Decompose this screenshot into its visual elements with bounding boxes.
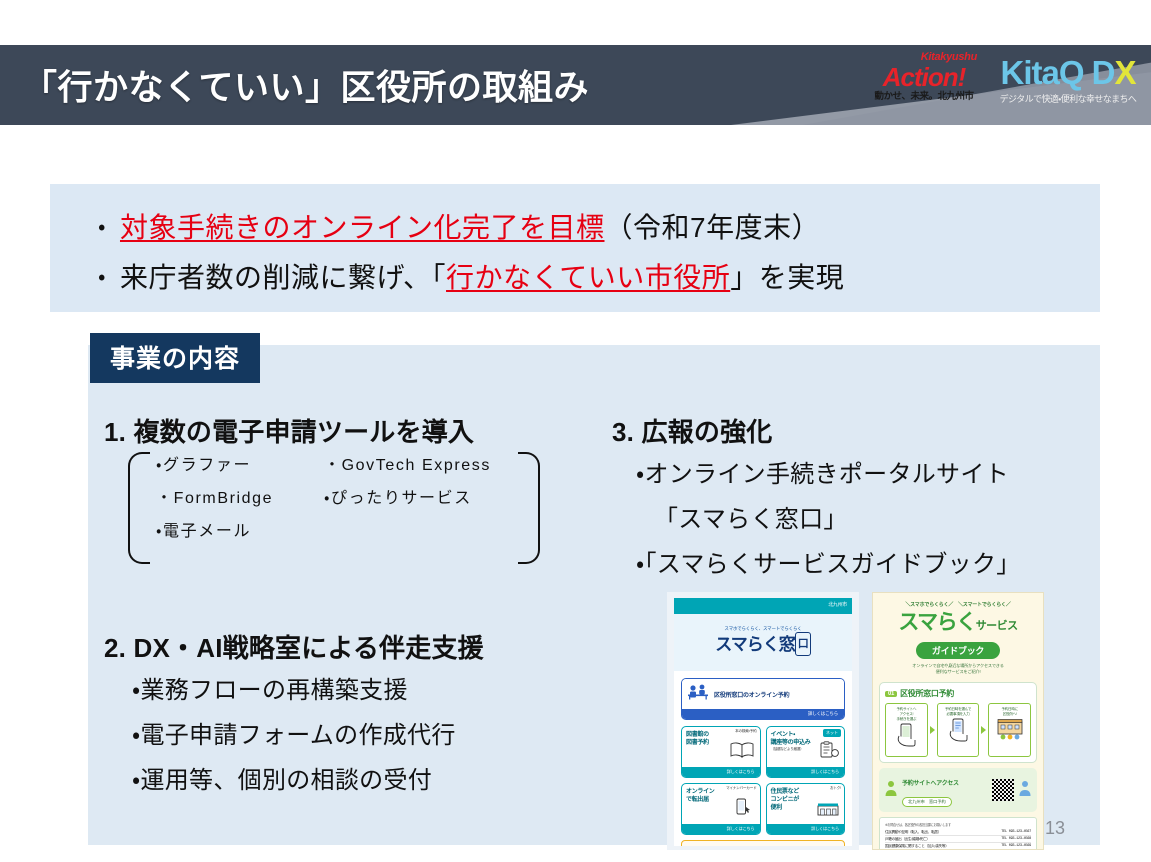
- convenience-store-icon: [816, 802, 840, 821]
- hand-phone-form-icon: [945, 730, 971, 747]
- guidebook-qr-label: 予約サイトへアクセス: [902, 781, 959, 787]
- table-row: 戸籍の届出（出生・婚姻・死亡）TEL 093-123-4568: [885, 836, 1031, 843]
- contact-tel: TEL 093-123-4569: [990, 843, 1031, 850]
- goal-bullet-2-pre: 来庁者数の削減に繋げ、「: [120, 262, 446, 293]
- tool-item: [324, 522, 512, 542]
- portal-card-mini-label: おトク!: [830, 786, 841, 791]
- item-2-heading: 2. DX・AI戦略室による伴走支援: [104, 628, 484, 665]
- portal-main-card-label: 区役所窓口のオンライン予約: [714, 690, 789, 699]
- goal-summary-box: ・対象手続きのオンライン化完了を目標（令和7年度末） ・来庁者数の削減に繋げ、「…: [50, 184, 1100, 312]
- bullet-dot-icon: ・: [98, 264, 106, 289]
- table-row: 国民健康保険に関すること（加入・喪失等）TEL 093-123-4569: [885, 843, 1031, 850]
- guidebook-contact-table: ※お問合せは、各区役所の各担当課にお願いします 住民異動や証明（転入、転出、転居…: [879, 817, 1037, 850]
- portal-card-title: 図書館の 図書予約: [686, 731, 732, 747]
- guidebook-badge: ガイドブック: [916, 642, 1000, 659]
- guidebook-description: オンラインで自宅や身近な場所からアクセスできる 便利なサービスをご紹介!: [873, 663, 1043, 675]
- clipboard-icon: [818, 741, 840, 764]
- guidebook-step-2: 予約日時を選んで 必要事項を入力: [937, 703, 980, 757]
- action-logo-tagline: 動かせ、未来。北九州市: [865, 91, 983, 103]
- goal-bullet-1-rest: （令和7年度末）: [605, 212, 821, 243]
- kitakyushu-action-logo: Kitakyushu Action! 動かせ、未来。北九州市: [865, 52, 983, 114]
- item-2-bullet-list: ・業務フローの再構築支援 ・電子申請フォームの作成代行 ・運用等、個別の相談の受…: [132, 668, 456, 803]
- person-icon: [884, 780, 898, 801]
- portal-card-body: マイナンバーカード オンライン で転出届: [682, 784, 760, 824]
- contact-table-body: 住民異動や証明（転入、転出、転居）TEL 093-123-4567 戸籍の届出（…: [885, 829, 1031, 850]
- goal-bullet-1-highlight: 対象手続きのオンライン化完了を目標: [120, 212, 605, 243]
- guidebook-step-text: 予約サイトへ アクセス! 手続きを選ぶ: [888, 707, 925, 722]
- guidebook-tagline: ＼スマホでらくらく／ ＼スマートでらくらく／: [873, 601, 1043, 608]
- list-item: ・「スマらくサービスガイドブック」: [636, 542, 1021, 587]
- guidebook-step-text: 予約日時に 区役所へ!: [991, 707, 1028, 717]
- guidebook-step-3: 予約日時に 区役所へ!: [988, 703, 1031, 757]
- list-item: 「スマらく窓口」: [636, 497, 1021, 542]
- book-icon: [729, 741, 755, 764]
- portal-card-mini-label: マイナンバーカード: [726, 786, 756, 791]
- tool-item: ・ぴったりサービス: [324, 489, 512, 509]
- smaraku-madoguchi-screenshot: 北九州市 スマホでらくらく、スマートでらくらく スマらく窓口 区役所窓口のオンラ…: [667, 592, 859, 850]
- arrow-right-icon: [981, 726, 986, 734]
- business-content-label: 事業の内容: [90, 333, 260, 383]
- page-number: 13: [1045, 818, 1065, 839]
- portal-body: 区役所窓口のオンライン予約 詳しくはこちら 本の検索・予約 図書館の 図書予約 …: [674, 671, 852, 846]
- goal-bullet-2-post: 」を実現: [730, 262, 844, 293]
- guidebook-section-title-text: 区役所窓口予約: [900, 689, 954, 698]
- guidebook-step-text: 予約日時を選んで 必要事項を入力: [940, 707, 977, 717]
- goal-bullet-2-highlight: 行かなくていい市役所: [446, 262, 730, 293]
- tool-item: ・GovTech Express: [324, 456, 512, 476]
- portal-card-title: イベント・ 講座等の申込み: [771, 731, 817, 747]
- list-item: ・電子申請フォームの作成代行: [132, 713, 456, 758]
- goal-bullet-2: ・来庁者数の削減に繋げ、「行かなくていい市役所」を実現: [98, 256, 844, 296]
- guidebook-step-1: 予約サイトへ アクセス! 手続きを選ぶ: [885, 703, 928, 757]
- contact-tel: TEL 093-123-4567: [990, 829, 1031, 836]
- portal-hero: スマホでらくらく、スマートでらくらく スマらく窓口: [674, 614, 852, 671]
- portal-card-conveni[interactable]: おトク! 住民票など コンビニが 便利 詳しくはこちら: [766, 783, 846, 835]
- arrow-right-icon: [930, 726, 935, 734]
- guidebook-section-01: 01区役所窓口予約 予約サイトへ アクセス! 手続きを選ぶ 予約日時を選んで 必…: [879, 682, 1037, 763]
- tool-item: ・FormBridge: [156, 489, 324, 509]
- list-item: ・オンライン手続きポータルサイト: [636, 452, 1021, 497]
- smaraku-guidebook-screenshot: ＼スマホでらくらく／ ＼スマートでらくらく／ スマらくサービス ガイドブック オ…: [872, 592, 1044, 850]
- portal-bottom-strip: [681, 840, 845, 846]
- portal-brand: スマらく窓口: [674, 632, 852, 656]
- portal-main-card-footer[interactable]: 詳しくはこちら: [682, 709, 844, 719]
- portal-card-footer[interactable]: 詳しくはこちら: [682, 824, 760, 834]
- bracket-right-icon: [518, 452, 540, 564]
- tools-bracket-group: ・グラファー ・GovTech Express ・FormBridge ・ぴった…: [128, 452, 540, 564]
- table-row: 住民異動や証明（転入、転出、転居）TEL 093-123-4567: [885, 829, 1031, 836]
- portal-card-body: 本の検索・予約 図書館の 図書予約: [682, 727, 760, 767]
- contact-table: 住民異動や証明（転入、転出、転居）TEL 093-123-4567 戸籍の届出（…: [885, 829, 1031, 850]
- bracket-left-icon: [128, 452, 150, 564]
- portal-card-title: 住民票など コンビニが 便利: [771, 788, 817, 812]
- kitaq-dx-logo: KitaQ DX デジタルで快適・便利な幸せなまちへ: [988, 52, 1148, 114]
- tools-list: ・グラファー ・GovTech Express ・FormBridge ・ぴった…: [156, 456, 512, 542]
- portal-card-library[interactable]: 本の検索・予約 図書館の 図書予約 詳しくはこちら: [681, 726, 761, 778]
- portal-card-badge: ネット: [823, 729, 841, 737]
- tool-item: ・電子メール: [156, 522, 324, 542]
- counter-reception-icon: [687, 684, 709, 705]
- guidebook-brand-text: スマらく: [898, 611, 975, 634]
- portal-card-mini-label: 本の検索・予約: [735, 729, 756, 734]
- action-logo-main-text: Action!: [865, 63, 983, 91]
- guidebook-brand-service: サービス: [976, 620, 1018, 632]
- portal-brand-text: スマらく窓: [715, 635, 795, 654]
- guidebook-table-caption: ※お問合せは、各区役所の各担当課にお願いします: [885, 822, 1031, 827]
- portal-card-footer[interactable]: 詳しくはこちら: [767, 824, 845, 834]
- page-title: 「行かなくていい」区役所の取組み: [22, 60, 589, 111]
- guidebook-section-title: 01区役所窓口予約: [885, 688, 1031, 699]
- item-3-heading: 3. 広報の強化: [612, 412, 773, 449]
- portal-card-moveout[interactable]: マイナンバーカード オンライン で転出届 詳しくはこちら: [681, 783, 761, 835]
- government-office-icon: [995, 730, 1025, 747]
- qr-code-icon[interactable]: [992, 779, 1014, 801]
- portal-card-events[interactable]: ネット イベント・ 講座等の申込み （抽選などより厳選） 詳しくはこちら: [766, 726, 846, 778]
- item-3-bullet-list: ・オンライン手続きポータルサイト 「スマらく窓口」 ・「スマらくサービスガイドブ…: [636, 452, 1021, 587]
- contact-name: 住民異動や証明（転入、転出、転居）: [885, 829, 990, 836]
- contact-tel: TEL 093-123-4568: [990, 836, 1031, 843]
- guidebook-steps: 予約サイトへ アクセス! 手続きを選ぶ 予約日時を選んで 必要事項を入力 予約日…: [885, 703, 1031, 757]
- guidebook-section-number: 01: [885, 691, 897, 697]
- portal-card-body: おトク! 住民票など コンビニが 便利: [767, 784, 845, 824]
- kitaq-logo-main-text: KitaQ DX: [988, 52, 1148, 94]
- portal-brand-boxed-char: 口: [795, 632, 811, 656]
- smartphone-icon: [734, 797, 754, 822]
- kitaq-logo-text-x: X: [1115, 54, 1136, 91]
- portal-card-body: ネット イベント・ 講座等の申込み （抽選などより厳選）: [767, 727, 845, 767]
- guidebook-qr-pill: 北九州市 窓口予約: [902, 797, 952, 807]
- guidebook-qr-block: 予約サイトへアクセス 北九州市 窓口予約: [879, 768, 1037, 812]
- goal-bullet-1: ・対象手続きのオンライン化完了を目標（令和7年度末）: [98, 206, 820, 246]
- city-logo-label: 北九州市: [828, 601, 847, 608]
- portal-topbar: 北九州市: [674, 598, 852, 614]
- portal-card-footer[interactable]: 詳しくはこちら: [767, 767, 845, 777]
- tool-item: ・グラファー: [156, 456, 324, 476]
- item-1-heading: 1. 複数の電子申請ツールを導入: [104, 412, 474, 449]
- list-item: ・運用等、個別の相談の受付: [132, 758, 456, 803]
- portal-main-card[interactable]: 区役所窓口のオンライン予約 詳しくはこちら: [681, 678, 845, 720]
- guidebook-header: ＼スマホでらくらく／ ＼スマートでらくらく／ スマらくサービス ガイドブック オ…: [873, 593, 1043, 675]
- bullet-dot-icon: ・: [98, 214, 106, 239]
- portal-card-footer[interactable]: 詳しくはこちら: [682, 767, 760, 777]
- contact-name: 戸籍の届出（出生・婚姻・死亡）: [885, 836, 990, 843]
- guidebook-qr-text: 予約サイトへアクセス 北九州市 窓口予約: [902, 772, 988, 808]
- portal-main-card-top: 区役所窓口のオンライン予約: [682, 679, 844, 709]
- kitaq-logo-tagline: デジタルで快適・便利な幸せなまちへ: [988, 94, 1148, 105]
- portal-card-grid: 本の検索・予約 図書館の 図書予約 詳しくはこちら ネット イベント・ 講座等の…: [681, 726, 845, 835]
- contact-name: 国民健康保険に関すること（加入・喪失等）: [885, 843, 990, 850]
- staff-icon: [1018, 780, 1032, 801]
- list-item: ・業務フローの再構築支援: [132, 668, 456, 713]
- portal-page: 北九州市 スマホでらくらく、スマートでらくらく スマらく窓口 区役所窓口のオンラ…: [674, 598, 852, 846]
- hand-phone-icon: [893, 735, 919, 752]
- guidebook-brand: スマらくサービス: [873, 610, 1043, 639]
- kitaq-logo-text-a: KitaQ D: [1000, 54, 1114, 91]
